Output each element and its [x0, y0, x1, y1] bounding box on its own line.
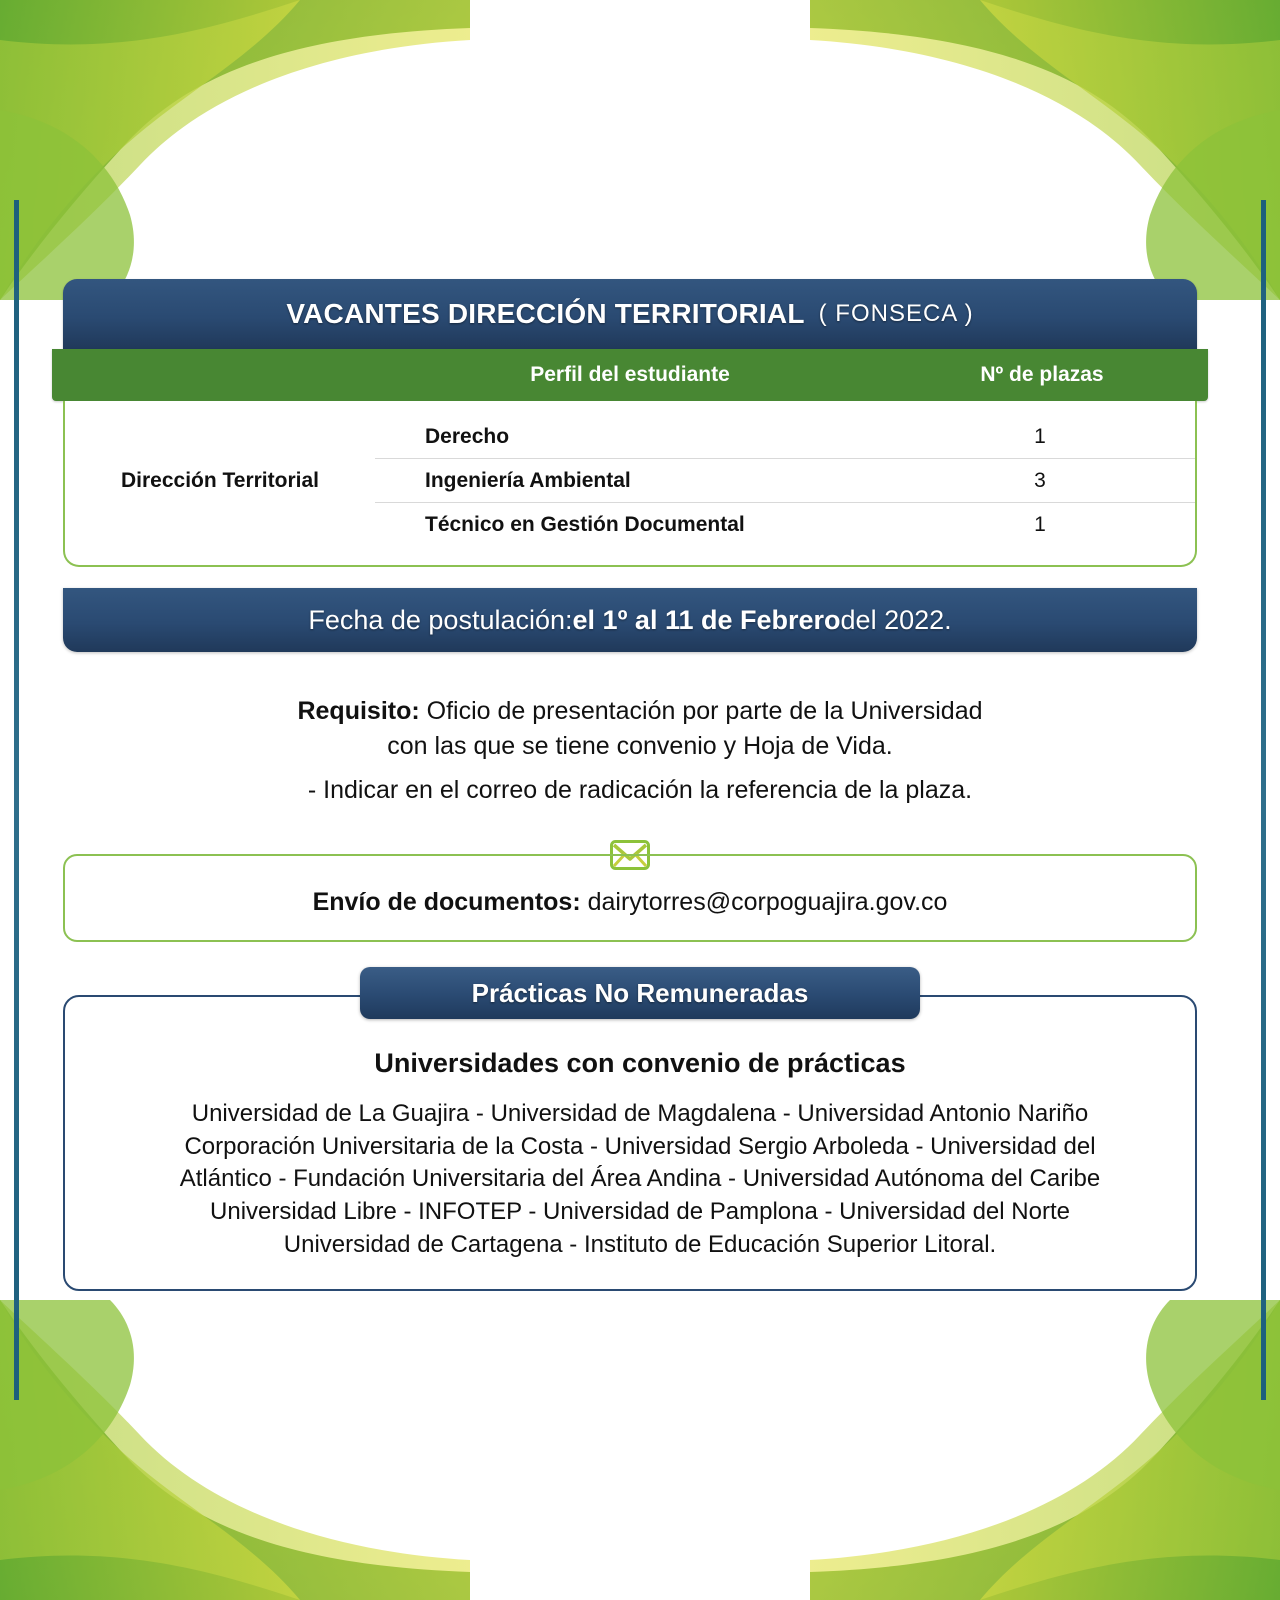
table-row: Ingeniería Ambiental 3 [375, 459, 1195, 503]
frame-strip-left [14, 200, 19, 1400]
row-profile: Ingeniería Ambiental [375, 469, 885, 493]
requirements-line2: con las que se tiene convenio y Hoja de … [387, 732, 892, 760]
table-rows: Derecho 1 Ingeniería Ambiental 3 Técnico… [375, 415, 1195, 547]
requirements-label: Requisito: [297, 697, 419, 725]
table-row: Técnico en Gestión Documental 1 [375, 503, 1195, 547]
table-body: Dirección Territorial Derecho 1 Ingenier… [63, 401, 1197, 567]
corner-decoration-top-right [810, 0, 1280, 300]
card-title-bar: VACANTES DIRECCIÓN TERRITORIAL ( FONSECA… [63, 279, 1197, 349]
internships-badge: Prácticas No Remuneradas [360, 967, 920, 1019]
date-highlight: el 1º al 11 de Febrero [573, 605, 841, 636]
date-prefix: Fecha de postulación: [308, 605, 572, 636]
row-profile: Derecho [375, 425, 885, 449]
corner-decoration-bottom-left [0, 1300, 470, 1600]
application-date-banner: Fecha de postulación: el 1º al 11 de Feb… [63, 588, 1197, 652]
table-header-row: Perfil del estudiante Nº de plazas [52, 349, 1208, 401]
poster-root: VACANTES DIRECCIÓN TERRITORIAL ( FONSECA… [0, 0, 1280, 1600]
requirements-line1: Oficio de presentación por parte de la U… [420, 697, 983, 725]
row-profile: Técnico en Gestión Documental [375, 513, 885, 537]
requirements-line3: - Indicar en el correo de radicación la … [140, 773, 1140, 808]
table-row: Derecho 1 [375, 415, 1195, 459]
row-slots: 3 [885, 469, 1195, 493]
requirements-block: Requisito: Oficio de presentación por pa… [140, 694, 1140, 808]
university-line: Corporación Universitaria de la Costa - … [90, 1131, 1190, 1164]
date-suffix: del 2022. [841, 605, 952, 636]
email-submission-box: Envío de documentos: dairytorres@corpogu… [63, 854, 1197, 942]
email-address[interactable]: dairytorres@corpoguajira.gov.co [581, 888, 948, 916]
universities-list: Universidad de La Guajira - Universidad … [90, 1098, 1190, 1261]
row-slots: 1 [885, 425, 1195, 449]
corner-decoration-bottom-right [810, 1300, 1280, 1600]
university-line: Universidad de Cartagena - Instituto de … [90, 1229, 1190, 1262]
card-title-location: ( FONSECA ) [819, 300, 974, 328]
email-text: Envío de documentos: dairytorres@corpogu… [313, 888, 948, 917]
table-group-label: Dirección Territorial [65, 415, 375, 547]
email-label: Envío de documentos: [313, 888, 581, 916]
university-line: Atlántico - Fundación Universitaria del … [90, 1163, 1190, 1196]
table-header-slots: Nº de plazas [887, 363, 1197, 387]
universities-subtitle: Universidades con convenio de prácticas [0, 1048, 1280, 1079]
card-title-main: VACANTES DIRECCIÓN TERRITORIAL [286, 298, 804, 330]
row-slots: 1 [885, 513, 1195, 537]
university-line: Universidad Libre - INFOTEP - Universida… [90, 1196, 1190, 1229]
corner-decoration-top-left [0, 0, 470, 300]
university-line: Universidad de La Guajira - Universidad … [90, 1098, 1190, 1131]
vacancies-card: VACANTES DIRECCIÓN TERRITORIAL ( FONSECA… [63, 279, 1197, 567]
table-header-profile: Perfil del estudiante [373, 363, 887, 387]
frame-strip-right [1261, 200, 1266, 1400]
